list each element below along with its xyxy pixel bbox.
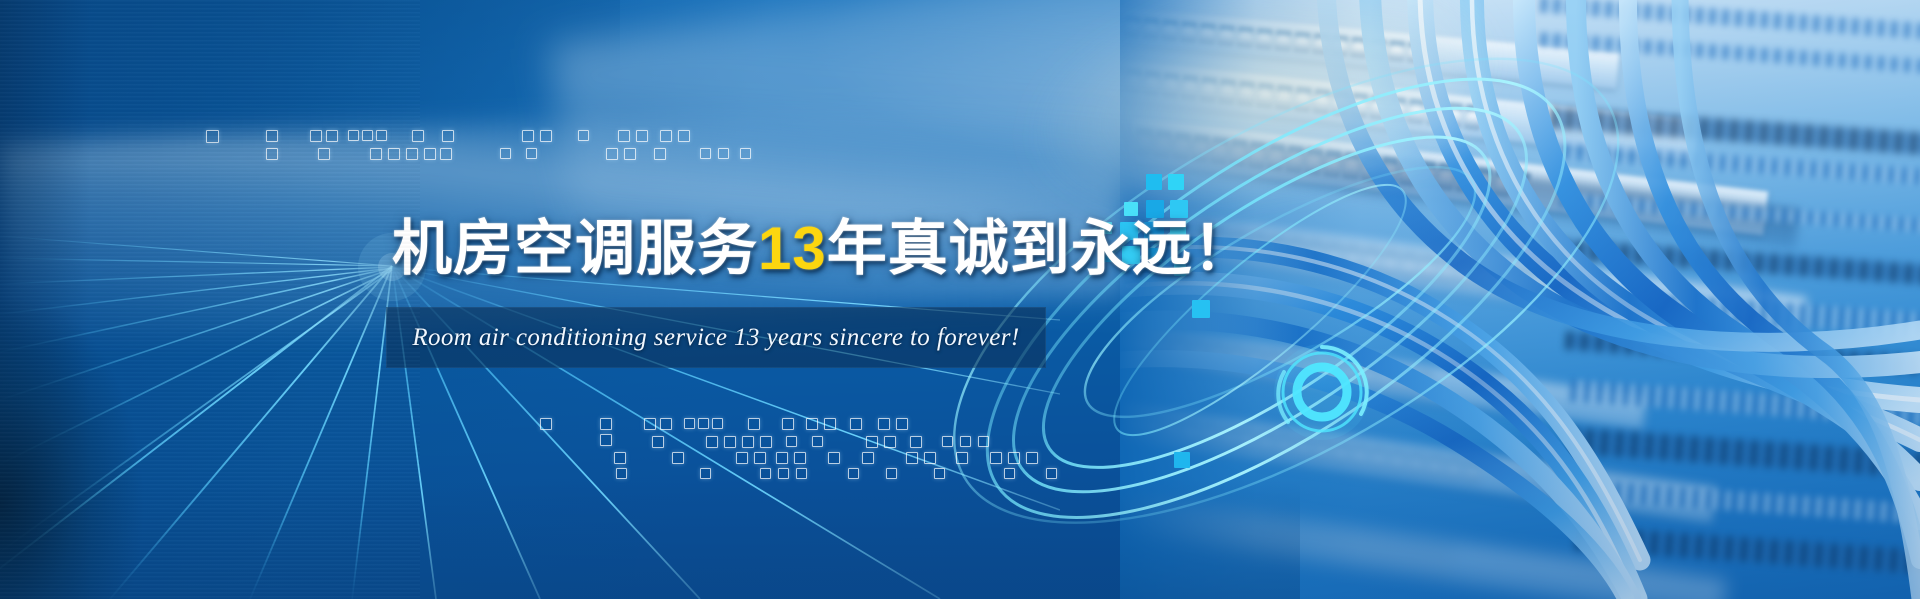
dot-square: [886, 468, 897, 479]
dot-square: [760, 436, 772, 448]
dot-square: [848, 468, 859, 479]
dot-square: [724, 436, 736, 448]
dot-square: [614, 452, 626, 464]
dot-square: [1046, 468, 1057, 479]
dot-square: [786, 436, 797, 447]
dot-square: [794, 452, 806, 464]
dot-square: [906, 452, 918, 464]
dot-square: [706, 436, 718, 448]
dot-square: [978, 436, 989, 447]
dot-square: [652, 436, 664, 448]
dot-square: [960, 436, 971, 447]
dot-square: [942, 436, 953, 447]
dot-square: [712, 418, 723, 429]
dot-square: [600, 434, 612, 446]
dot-square: [990, 452, 1002, 464]
dot-square: [672, 452, 684, 464]
dot-square: [896, 418, 908, 430]
dot-square: [742, 436, 754, 448]
subtitle-band: Room air conditioning service 13 years s…: [386, 307, 1046, 368]
dot-square: [884, 436, 896, 448]
dot-square: [812, 436, 823, 447]
dot-square: [878, 418, 890, 430]
hero-banner: 机房空调服务13年真诚到永远！ Room air conditioning se…: [0, 0, 1920, 599]
dot-square: [782, 418, 794, 430]
dot-square: [616, 468, 627, 479]
dot-square: [806, 418, 818, 430]
dot-square: [796, 468, 807, 479]
dot-square: [924, 452, 936, 464]
dot-square: [748, 418, 760, 430]
dot-square: [660, 418, 672, 430]
dot-square: [778, 468, 789, 479]
dot-square: [1004, 468, 1015, 479]
dot-square: [600, 418, 612, 430]
dot-square: [866, 436, 878, 448]
dot-square: [684, 418, 695, 429]
dot-square: [828, 452, 840, 464]
dot-square: [540, 418, 552, 430]
headline-part-1: 机房空调服务: [392, 215, 758, 282]
dot-square: [1026, 452, 1038, 464]
dot-square: [824, 418, 836, 430]
subtitle-text: Room air conditioning service 13 years s…: [386, 307, 1046, 368]
scanline-texture: [0, 0, 420, 599]
dot-square: [1008, 452, 1020, 464]
dot-square: [850, 418, 862, 430]
dot-square: [956, 452, 968, 464]
dot-square: [934, 468, 945, 479]
dot-square: [644, 418, 656, 430]
dot-square: [736, 452, 748, 464]
dot-square: [910, 436, 922, 448]
page-title: 机房空调服务13年真诚到永远！: [392, 200, 1254, 287]
dot-square: [754, 452, 766, 464]
dot-square: [862, 452, 874, 464]
dot-square: [760, 468, 771, 479]
headline-part-2: 年真诚到永远！: [827, 215, 1254, 282]
dot-square: [776, 452, 788, 464]
headline-highlight-number: 13: [758, 215, 827, 282]
dot-square: [698, 418, 709, 429]
dot-square: [700, 468, 711, 479]
